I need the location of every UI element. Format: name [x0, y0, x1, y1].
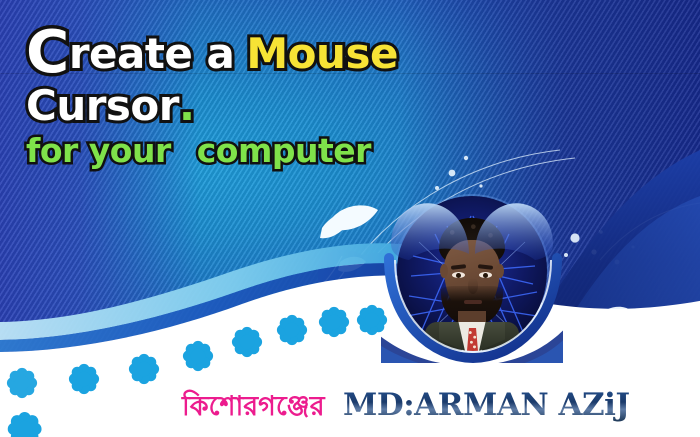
mouth	[464, 300, 482, 304]
caption-bengali-location: কিশোরগঞ্জের	[182, 386, 325, 431]
ear-left	[440, 264, 448, 278]
eye-left	[452, 272, 465, 278]
portrait-laser-backdrop	[397, 196, 547, 351]
portrait	[397, 196, 547, 351]
eye-right	[479, 272, 492, 278]
banner-canvas: Create aMouse Cursor. for yourcomputer ক…	[0, 0, 700, 437]
face-illustration	[425, 218, 519, 351]
flower-row-decoration	[0, 0, 700, 437]
ear-right	[496, 264, 504, 278]
caption-person-name: MD:ARMAN AZiJ	[343, 387, 630, 423]
